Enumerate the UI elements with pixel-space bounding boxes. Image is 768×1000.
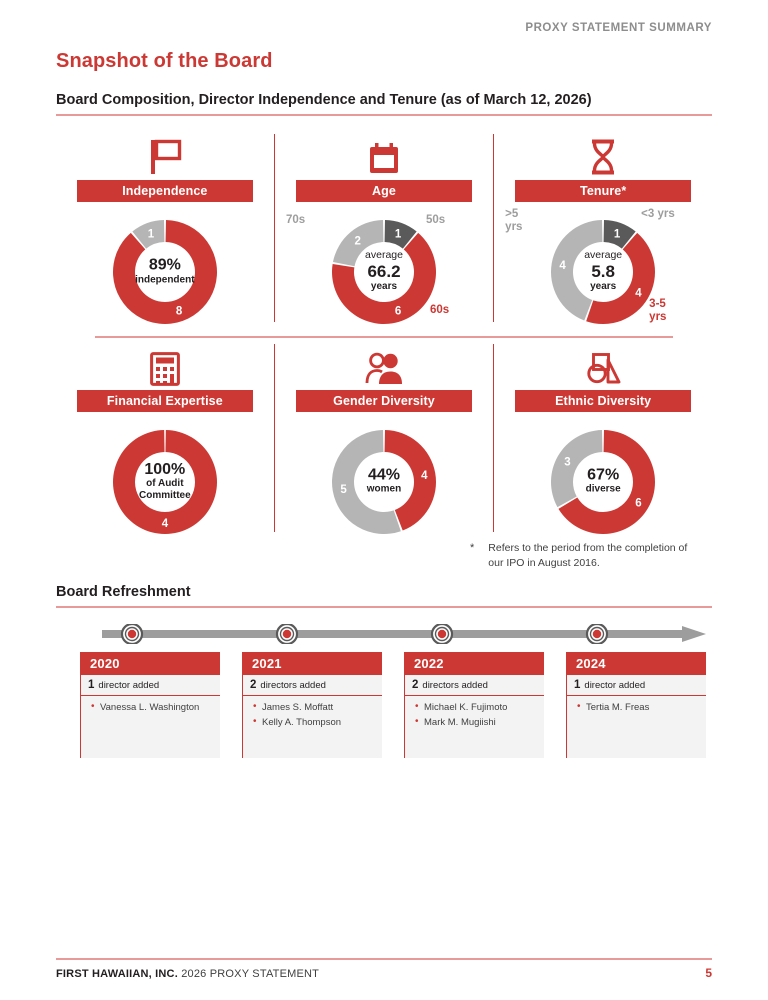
flag-icon (148, 136, 182, 176)
slice-value-label: 3 (564, 456, 570, 468)
donut-slice (113, 220, 217, 324)
donut-outer-label: 60s (430, 304, 449, 317)
slice-value-label: 8 (176, 306, 183, 318)
timeline-count-label: director added (98, 680, 159, 691)
timeline-count-label: director added (584, 680, 645, 691)
slice-value-label: 6 (635, 497, 641, 509)
page-footer: FIRST HAWAIIAN, INC. 2026 PROXY STATEMEN… (56, 966, 712, 980)
timeline-node (587, 624, 607, 644)
stat-title-banner: Independence (77, 180, 253, 202)
timeline-count-number: 1 (88, 679, 94, 691)
donut-chart-financial-expertise: 4100%of Audit Committee (65, 422, 265, 540)
timeline-director-list: Tertia M. Freas (567, 696, 706, 758)
donut-chart-tenure: 144average5.8years<3 yrs3-5 yrs>5 yrs (503, 212, 703, 330)
slice-value-label: 4 (635, 288, 642, 300)
list-item: James S. Moffatt (253, 700, 376, 715)
stat-title-banner: Age (296, 180, 472, 202)
stat-title-banner: Ethnic Diversity (515, 390, 691, 412)
donut-chart-age: 162average66.2years50s60s70s (284, 212, 484, 330)
slice-value-label: 5 (340, 484, 347, 496)
timeline-count: 2 directors added (243, 675, 382, 696)
timeline-count-label: directors added (422, 680, 487, 691)
timeline-arrow-icon (102, 624, 712, 644)
timeline-node (277, 624, 297, 644)
timeline-count: 1 director added (81, 675, 220, 696)
donut-chart-gender-diversity: 4544%women (284, 422, 484, 540)
donut-outer-label: 70s (286, 214, 305, 227)
donut-outer-label: <3 yrs (641, 208, 675, 221)
list-item: Michael K. Fujimoto (415, 700, 538, 715)
stat-card-age: Age162average66.2years50s60s70s (275, 128, 493, 330)
composition-section-header: Board Composition, Director Independence… (56, 92, 712, 116)
stat-card-tenure: Tenure*144average5.8years<3 yrs3-5 yrs>5… (494, 128, 712, 330)
timeline-node (122, 624, 142, 644)
timeline-node (432, 624, 452, 644)
donut-slice (551, 430, 602, 507)
calculator-icon (150, 346, 180, 386)
refreshment-section-header: Board Refreshment (56, 584, 712, 608)
heading-rule (56, 606, 712, 608)
timeline-count-number: 2 (412, 679, 418, 691)
stat-title-banner: Gender Diversity (296, 390, 472, 412)
footnote-marker: * (470, 541, 474, 571)
section-eyebrow: PROXY STATEMENT SUMMARY (525, 22, 712, 34)
slice-value-label: 4 (421, 469, 428, 481)
timeline-director-list: Vanessa L. Washington (81, 696, 220, 758)
tenure-footnote: * Refers to the period from the completi… (470, 541, 704, 571)
slice-value-label: 4 (162, 518, 169, 530)
stat-title-banner: Financial Expertise (77, 390, 253, 412)
stat-card-gender-diversity: Gender Diversity4544%women (275, 338, 493, 540)
slice-value-label: 1 (148, 228, 155, 240)
heading-rule (56, 114, 712, 116)
timeline-count: 2 directors added (405, 675, 544, 696)
timeline-card: 2021 2 directors added James S. MoffattK… (242, 652, 382, 758)
proxy-statement-page: PROXY STATEMENT SUMMARY Snapshot of the … (0, 0, 768, 1000)
list-item: Tertia M. Freas (577, 700, 700, 715)
calendar-icon (368, 136, 400, 176)
timeline-card: 2024 1 director added Tertia M. Freas (566, 652, 706, 758)
slice-value-label: 2 (354, 236, 360, 248)
footer-text: FIRST HAWAIIAN, INC. 2026 PROXY STATEMEN… (56, 968, 319, 980)
page-number: 5 (705, 966, 712, 980)
timeline-year: 2021 (243, 652, 382, 675)
stat-title-banner: Tenure* (515, 180, 691, 202)
shapes-icon (585, 346, 621, 386)
slice-value-label: 6 (395, 306, 401, 318)
donut-outer-label: 3-5 yrs (649, 298, 666, 324)
donut-outer-label: 50s (426, 214, 445, 227)
list-item: Kelly A. Thompson (253, 715, 376, 730)
slice-value-label: 4 (560, 260, 567, 272)
stat-card-ethnic-diversity: Ethnic Diversity6367%diverse (494, 338, 712, 540)
footnote-text: Refers to the period from the completion… (488, 541, 704, 571)
timeline-count: 1 director added (567, 675, 706, 696)
timeline-year: 2020 (81, 652, 220, 675)
donut-chart-independence: 8189%independent (65, 212, 265, 330)
people-icon (365, 346, 403, 386)
slice-value-label: 1 (614, 228, 621, 240)
footer-rule (56, 958, 712, 960)
timeline-card: 2020 1 director added Vanessa L. Washing… (80, 652, 220, 758)
stats-row-1: Independence8189%independentAge162averag… (56, 128, 712, 330)
stat-card-financial-expertise: Financial Expertise4100%of Audit Committ… (56, 338, 274, 540)
list-item: Mark M. Mugiishi (415, 715, 538, 730)
timeline-director-list: Michael K. FujimotoMark M. Mugiishi (405, 696, 544, 758)
stat-card-independence: Independence8189%independent (56, 128, 274, 330)
board-refreshment-timeline: 2020 1 director added Vanessa L. Washing… (56, 612, 712, 772)
footer-company: FIRST HAWAIIAN, INC. (56, 968, 178, 980)
refreshment-heading: Board Refreshment (56, 584, 712, 606)
timeline-axis (102, 624, 712, 644)
timeline-cards: 2020 1 director added Vanessa L. Washing… (80, 652, 712, 758)
footer-document: 2026 PROXY STATEMENT (178, 968, 319, 980)
timeline-count-label: directors added (260, 680, 325, 691)
slice-value-label: 1 (395, 228, 402, 240)
timeline-year: 2022 (405, 652, 544, 675)
timeline-director-list: James S. MoffattKelly A. Thompson (243, 696, 382, 758)
donut-chart-ethnic-diversity: 6367%diverse (503, 422, 703, 540)
page-title: Snapshot of the Board (56, 50, 273, 73)
timeline-count-number: 1 (574, 679, 580, 691)
board-stats-grid: Independence8189%independentAge162averag… (56, 128, 712, 540)
hourglass-icon (588, 136, 618, 176)
list-item: Vanessa L. Washington (91, 700, 214, 715)
donut-outer-label: >5 yrs (505, 208, 522, 234)
stats-row-2: Financial Expertise4100%of Audit Committ… (56, 338, 712, 540)
timeline-year: 2024 (567, 652, 706, 675)
composition-heading: Board Composition, Director Independence… (56, 92, 712, 114)
timeline-card: 2022 2 directors added Michael K. Fujimo… (404, 652, 544, 758)
timeline-count-number: 2 (250, 679, 256, 691)
